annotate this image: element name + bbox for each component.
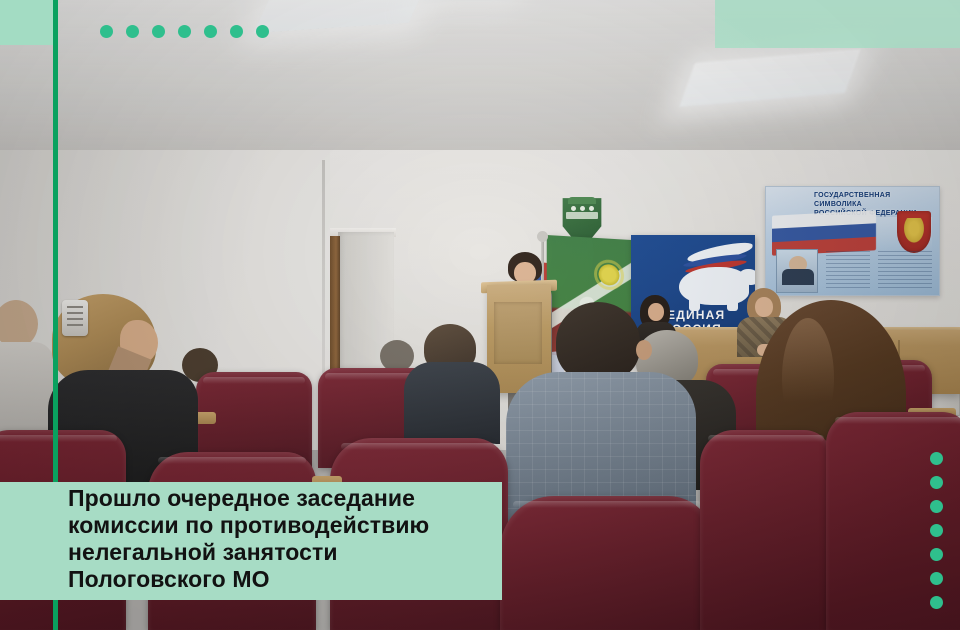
seat-front (700, 430, 832, 630)
hair-clip (62, 300, 88, 336)
screenshot-root: ЕДИНАЯ РОССИЯ ГОСУДАРСТВЕННАЯ СИМВОЛИКАР… (0, 0, 960, 630)
top-right-mint-block (715, 0, 960, 48)
decorative-dot (930, 500, 943, 513)
decorative-dot (930, 596, 943, 609)
door-frame (330, 236, 340, 384)
top-left-mint-block (0, 0, 53, 45)
foreground-man-ear (636, 340, 652, 360)
decorative-dot (930, 548, 943, 561)
decorative-dot (930, 524, 943, 537)
decorative-dot (256, 25, 269, 38)
foreground-man-head (556, 302, 640, 382)
emblem-dot (580, 206, 585, 211)
poster-title: ГОСУДАРСТВЕННАЯ СИМВОЛИКАРОССИЙСКОЙ ФЕДЕ… (814, 191, 935, 211)
decorative-dot (126, 25, 139, 38)
state-symbols-poster: ГОСУДАРСТВЕННАЯ СИМВОЛИКАРОССИЙСКОЙ ФЕДЕ… (765, 186, 940, 296)
banner-title-line1: ЕДИНАЯ (667, 308, 725, 322)
poster-text-column (878, 251, 932, 291)
emblem-dot (571, 206, 576, 211)
decorative-dot (930, 452, 943, 465)
emblem-band (566, 212, 598, 219)
decorative-dot (930, 476, 943, 489)
poster-title-line1: ГОСУДАРСТВЕННАЯ СИМВОЛИКА (814, 192, 890, 208)
flag-pole-finial (537, 231, 548, 242)
decorative-dot (930, 572, 943, 585)
bear-leg (727, 297, 738, 311)
decorative-dot (204, 25, 217, 38)
audience-member-body (0, 342, 54, 432)
decorative-dot (152, 25, 165, 38)
presidium-member-2-face (755, 297, 773, 317)
hair-highlight (782, 318, 834, 438)
emblem-crest (568, 197, 596, 204)
caption-headline: Прошло очередное заседание комиссии по п… (68, 485, 498, 593)
audience-member-body (404, 362, 500, 444)
decorative-dot (100, 25, 113, 38)
double-headed-eagle-icon (897, 211, 931, 253)
emblem-dot (589, 206, 594, 211)
poster-text-column (826, 251, 870, 291)
seat-front (500, 496, 714, 630)
decorative-dot (178, 25, 191, 38)
podium-front-panel (494, 302, 542, 364)
presidium-member-1-face (648, 303, 664, 321)
poster-portrait (776, 249, 818, 293)
decorative-dot (230, 25, 243, 38)
